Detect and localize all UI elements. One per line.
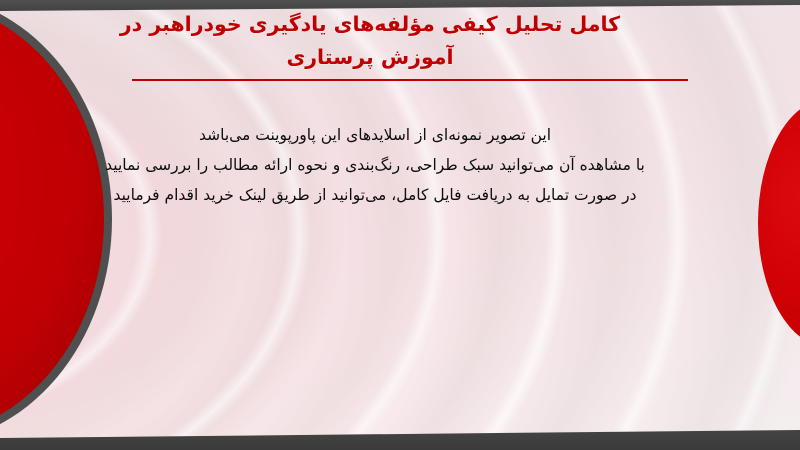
body-line-3: در صورت تمایل به دریافت فایل کامل، می‌تو… [60,180,690,210]
slide-body-text: این تصویر نمونه‌ای از اسلایدهای این پاور… [60,120,690,210]
body-line-1: این تصویر نمونه‌ای از اسلایدهای این پاور… [60,120,690,150]
title-underline-rule [132,79,688,81]
body-line-2: با مشاهده آن می‌توانید سبک طراحی، رنگ‌بن… [60,150,690,180]
slide-title-line-1: کامل تحلیل کیفی مؤلفه‌های یادگیری خودراه… [40,8,700,41]
slide-canvas: کامل تحلیل کیفی مؤلفه‌های یادگیری خودراه… [0,0,800,450]
slide-title: کامل تحلیل کیفی مؤلفه‌های یادگیری خودراه… [40,8,700,74]
slide-title-line-2: آموزش پرستاری [40,41,700,74]
